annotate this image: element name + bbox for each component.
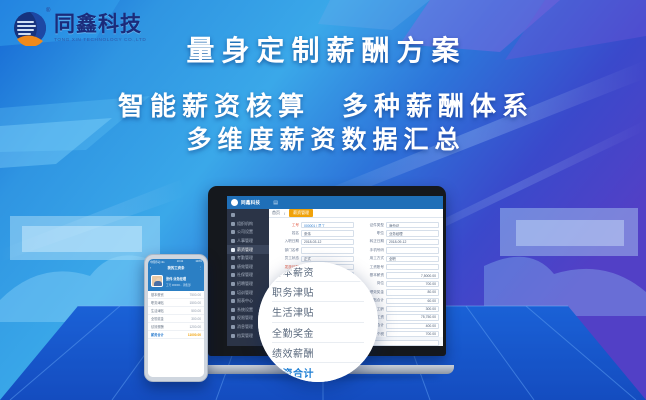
book-icon	[231, 291, 235, 295]
field-value[interactable]	[386, 247, 439, 253]
sidebar-item-label: 消息管理	[237, 324, 253, 330]
status-time: 10:42	[177, 260, 184, 263]
employee-name: 张伟 业务经理	[166, 276, 191, 281]
sidebar-item-label: 培训管理	[237, 290, 253, 296]
magnified-item: 基本薪资	[272, 262, 364, 282]
sidebar-item-label: 考勤管理	[237, 255, 253, 261]
sidebar-item-label: 权限管理	[237, 315, 253, 321]
device-mockups: 同鑫科技 ▤ 组织机构	[0, 0, 646, 400]
field-label: 证件类型	[358, 223, 384, 228]
grid-icon	[231, 230, 235, 234]
app-title: 同鑫科技	[241, 200, 260, 206]
clock-icon	[231, 256, 235, 260]
form-row: 手机号码	[358, 247, 439, 253]
promo-banner: ® 同鑫科技 TONG XIN TECHNOLOGY CO.,LTD 量身定制薪…	[0, 0, 646, 400]
sidebar-item-label: 报表中心	[237, 298, 253, 304]
total-label: 薪资合计	[151, 332, 164, 337]
sidebar-item-label: 社保管理	[237, 272, 253, 278]
item-value: 500.00	[191, 309, 201, 313]
app-logo-icon	[231, 199, 238, 206]
magnifier-lens: 基本薪资 职务津贴 生活津贴 全勤奖金 绩效薪酬 薪资合计	[258, 262, 378, 382]
magnified-item-total: 薪资合计	[272, 363, 364, 382]
sidebar-item-company[interactable]: 公司设置	[227, 228, 269, 237]
bell-icon	[231, 325, 235, 329]
item-label: 全勤奖金	[151, 316, 164, 321]
back-arrow-icon[interactable]: ‹	[150, 266, 151, 270]
item-value: 7500.00	[189, 293, 201, 297]
status-carrier: 中国移动 4G	[150, 260, 165, 264]
field-label: 转正日期	[358, 239, 384, 244]
field-value[interactable]: 75,750.00	[386, 314, 439, 320]
menu-icon[interactable]: ▤	[273, 200, 278, 206]
form-row: 工号000001 | 员工	[273, 222, 354, 228]
list-item-total[interactable]: 薪资合计11000.00	[148, 331, 204, 339]
field-value[interactable]: 700.00	[386, 331, 439, 337]
list-item[interactable]: 职务津贴1500.00	[148, 299, 204, 307]
form-row: 转正日期2018-09-12	[358, 239, 439, 245]
list-item[interactable]: 生活津贴500.00	[148, 307, 204, 315]
tag-icon	[231, 316, 235, 320]
form-row: 职位业务经理	[358, 230, 439, 236]
doc-icon	[231, 273, 235, 277]
field-value[interactable]: 张伟	[301, 230, 354, 236]
sidebar-item-refresh[interactable]	[227, 211, 269, 220]
field-label: 部门名称	[273, 248, 299, 253]
field-value[interactable]	[301, 247, 354, 253]
field-value[interactable]: 全职	[386, 256, 439, 262]
field-value[interactable]: 80.00	[386, 289, 439, 295]
refresh-icon	[231, 213, 235, 217]
field-value[interactable]: 身份证	[386, 222, 439, 228]
field-label: 入职日期	[273, 239, 299, 244]
field-label: 员工状态	[273, 256, 299, 261]
phone-navbar: ‹ 我的工资条 ⋮	[148, 264, 204, 271]
field-label: 姓名	[273, 231, 299, 236]
field-value[interactable]: 300.00	[386, 306, 439, 312]
sidebar-item-label: 人事管理	[237, 238, 253, 244]
item-label: 生活津贴	[151, 308, 164, 313]
field-value[interactable]: 400.00	[386, 323, 439, 329]
form-row: 证件类型身份证	[358, 222, 439, 228]
field-value[interactable]: 60.00	[386, 298, 439, 304]
field-label: 职位	[358, 231, 384, 236]
magnified-item: 绩效薪酬	[272, 343, 364, 363]
gear-icon	[231, 308, 235, 312]
breadcrumb-tabbar: 首页 / 薪资管理	[269, 209, 443, 218]
box-icon	[231, 282, 235, 286]
item-value: 300.00	[191, 317, 201, 321]
form-row: 员工状态正式	[273, 256, 354, 262]
field-value[interactable]: 700.00	[386, 281, 439, 287]
field-value[interactable]	[386, 264, 439, 270]
chart-icon	[231, 265, 235, 269]
employee-meta: 工号 000001 · 销售部	[166, 283, 191, 287]
list-item[interactable]: 全勤奖金300.00	[148, 315, 204, 323]
avatar-icon	[151, 275, 163, 287]
user-icon	[231, 222, 235, 226]
field-value[interactable]: 业务经理	[386, 230, 439, 236]
file-icon	[231, 334, 235, 338]
breadcrumb[interactable]: 首页	[272, 210, 280, 216]
phone-profile-card: 张伟 业务经理 工号 000001 · 销售部	[148, 271, 204, 291]
sidebar-item-label: 薪资管理	[237, 247, 253, 253]
field-value[interactable]: 7,5000.00	[386, 272, 439, 278]
phone-title: 我的工资条	[168, 265, 185, 270]
status-battery: 100%	[195, 260, 202, 263]
form-row: 姓名张伟	[273, 230, 354, 236]
total-value: 11000.00	[188, 333, 201, 337]
field-value[interactable]: 正式	[301, 256, 354, 262]
flag-icon	[231, 299, 235, 303]
list-item[interactable]: 绩效薪酬1200.00	[148, 323, 204, 331]
sidebar-item-label: 组织机构	[237, 221, 253, 227]
form-row: 部门名称	[273, 247, 354, 253]
item-label: 基本薪资	[151, 292, 164, 297]
field-value[interactable]: 000001 | 员工	[301, 222, 354, 228]
item-label: 职务津贴	[151, 300, 164, 305]
field-label: 工号	[273, 223, 299, 228]
sidebar-item-org[interactable]: 组织机构	[227, 220, 269, 229]
phone-payslip-list: 基本薪资7500.00 职务津贴1500.00 生活津贴500.00 全勤奖金3…	[148, 291, 204, 377]
phone-screen: 中国移动 4G 10:42 100% ‹ 我的工资条 ⋮ 张伟 业务经理 工号 …	[148, 259, 204, 377]
field-value[interactable]: 2018-03-12	[301, 239, 354, 245]
app-titlebar: 同鑫科技 ▤	[227, 196, 443, 209]
breadcrumb-separator: /	[284, 211, 285, 216]
field-label: 用工方式	[358, 256, 384, 261]
item-value: 1200.00	[189, 325, 201, 329]
item-label: 绩效薪酬	[151, 324, 164, 329]
sidebar-item-label: 绩效管理	[237, 264, 253, 270]
form-row: 用工方式全职	[358, 256, 439, 262]
magnified-item: 职务津贴	[272, 282, 364, 302]
more-dots-icon[interactable]: ⋮	[199, 266, 202, 270]
phone-mockup: 中国移动 4G 10:42 100% ‹ 我的工资条 ⋮ 张伟 业务经理 工号 …	[144, 254, 208, 382]
field-value[interactable]: 2018-09-12	[386, 239, 439, 245]
item-value: 1500.00	[189, 301, 201, 305]
sidebar-item-label: 档案管理	[237, 333, 253, 339]
sidebar-item-payroll[interactable]: 薪资管理	[227, 245, 269, 254]
sidebar-item-label: 招聘管理	[237, 281, 253, 287]
people-icon	[231, 239, 235, 243]
form-row: 入职日期2018-03-12	[273, 239, 354, 245]
magnified-item: 生活津贴	[272, 302, 364, 322]
sidebar-item-label: 公司设置	[237, 229, 253, 235]
field-label: 手机号码	[358, 248, 384, 253]
sidebar-item-label: 系统设置	[237, 307, 253, 313]
list-item[interactable]: 基本薪资7500.00	[148, 291, 204, 299]
magnified-item: 全勤奖金	[272, 323, 364, 343]
money-icon	[231, 248, 235, 252]
tab-payroll[interactable]: 薪资管理	[289, 209, 313, 217]
sidebar-item-hr[interactable]: 人事管理	[227, 237, 269, 246]
